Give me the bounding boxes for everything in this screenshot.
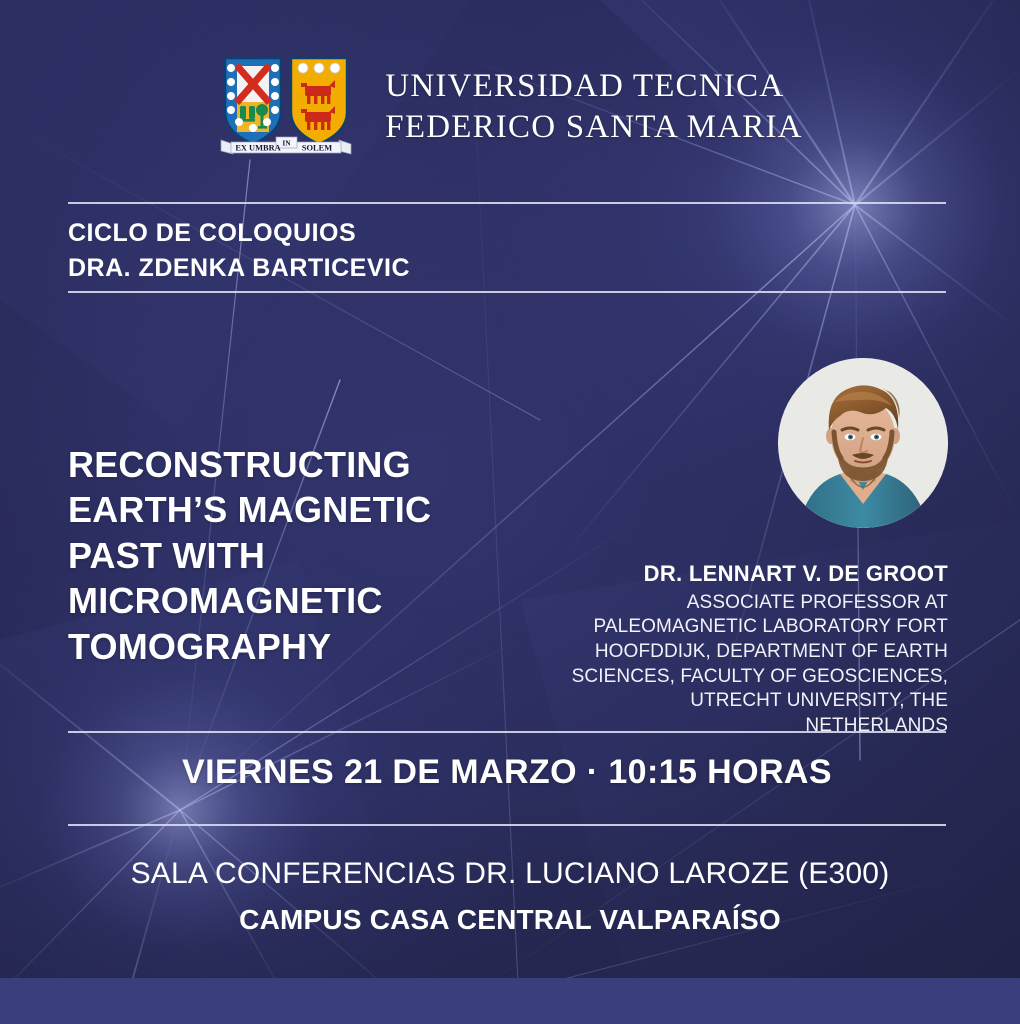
university-name: UNIVERSIDAD TECNICA FEDERICO SANTA MARIA: [385, 52, 802, 148]
bottom-color-band: [0, 978, 1020, 1024]
poster-header: EX UMBRA IN SOLEM UNIVERSIDAD TECNICA FE…: [0, 52, 1020, 156]
svg-text:EX UMBRA: EX UMBRA: [236, 144, 281, 153]
utfsm-coat-of-arms-icon: EX UMBRA IN SOLEM: [217, 52, 355, 156]
venue-room: SALA CONFERENCIAS DR. LUCIANO LAROZE (E3…: [0, 853, 1020, 896]
divider-series-bottom: [68, 291, 946, 293]
svg-text:SOLEM: SOLEM: [302, 144, 332, 153]
speaker-block: DR. LENNART V. DE GROOT ASSOCIATE PROFES…: [548, 560, 948, 739]
divider-date-bottom: [68, 824, 946, 826]
venue-block: SALA CONFERENCIAS DR. LUCIANO LAROZE (E3…: [0, 853, 1020, 939]
speaker-name: DR. LENNART V. DE GROOT: [548, 560, 948, 588]
divider-series-top: [68, 202, 946, 204]
speaker-affiliation: ASSOCIATE PROFESSOR AT PALEOMAGNETIC LAB…: [548, 591, 948, 739]
talk-title: RECONSTRUCTING EARTH’S MAGNETIC PAST WIT…: [68, 442, 538, 669]
divider-date-top: [68, 731, 946, 733]
event-date-time: VIERNES 21 DE MARZO · 10:15 HORAS: [68, 753, 946, 792]
colloquium-series-label: CICLO DE COLOQUIOS DRA. ZDENKA BARTICEVI…: [68, 216, 410, 285]
venue-campus: CAMPUS CASA CENTRAL VALPARAÍSO: [0, 900, 1020, 940]
speaker-portrait: [778, 358, 948, 528]
svg-text:IN: IN: [283, 139, 292, 148]
crest-motto-ribbon: EX UMBRA IN SOLEM: [221, 137, 351, 154]
poster-canvas: EX UMBRA IN SOLEM UNIVERSIDAD TECNICA FE…: [0, 0, 1020, 1024]
